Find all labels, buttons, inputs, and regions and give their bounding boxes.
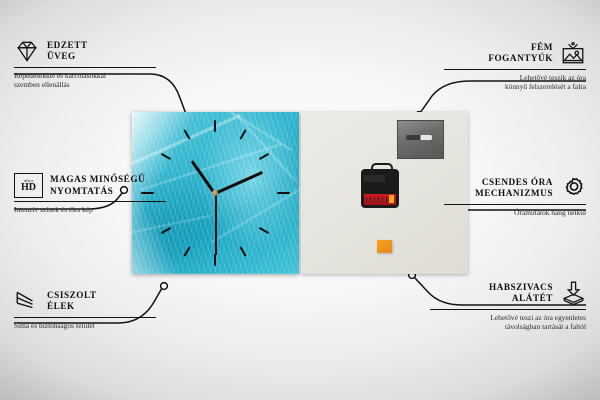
callout-fem-fogantyuk: FÉM FOGANTYÚK Lehetővé teszik az óra kön… (444, 40, 586, 92)
ultra-hd-icon: ultra HD (14, 173, 43, 198)
hanger-slot (406, 135, 432, 140)
callout-csendes-ora-mechanizmus: CSENDES ÓRA MECHANIZMUS Óramutatók hang … (444, 175, 586, 217)
callout-rule (14, 317, 156, 318)
mechanism-hook (371, 163, 393, 173)
clock-minute-hand (214, 171, 263, 195)
callout-rule (444, 204, 586, 205)
diamond-icon (14, 38, 40, 64)
callout-title: HABSZIVACS ALÁTÉT (489, 282, 553, 305)
battery-compartment (364, 194, 396, 205)
callout-title: CSENDES ÓRA MECHANIZMUS (475, 177, 553, 200)
clock-tick (161, 227, 172, 234)
product-photo (132, 112, 468, 274)
callout-subtitle: Óramutatók hang nélkül (444, 208, 586, 218)
clock-hub (212, 190, 218, 196)
callout-title: CSISZOLT ÉLEK (47, 290, 97, 313)
clock-tick (259, 153, 270, 160)
callout-magas-minosegu-nyomtatas: ultra HD MAGAS MINŐSÉGŰ NYOMTATÁS Intenz… (14, 173, 166, 214)
callout-rule (444, 69, 586, 70)
callout-rule (430, 309, 586, 310)
connector-dot-csiszolt-elek (161, 283, 168, 290)
callout-subtitle: Lehetővé teszi az óra egyenletes távolsá… (430, 313, 586, 332)
callout-csiszolt-elek: CSISZOLT ÉLEK Sima és biztonságos felüle… (14, 288, 156, 330)
gear-icon (560, 175, 586, 201)
clock-tick (239, 129, 246, 140)
callout-subtitle: Intenzív színek és éles kép (14, 205, 166, 215)
battery-label-ticks (366, 197, 388, 202)
clock-tick (183, 246, 190, 257)
clock-tick (214, 120, 216, 132)
foam-pad (377, 240, 392, 253)
clock-tick (214, 254, 216, 266)
callout-subtitle: Repedésekkel és karcolásokkal szemben el… (14, 71, 156, 90)
callout-rule (14, 201, 166, 202)
clock-tick (239, 246, 246, 257)
clock-tick (161, 153, 172, 160)
polished-edges-icon (14, 288, 40, 314)
clock-second-hand (215, 193, 216, 255)
callout-title: MAGAS MINŐSÉGŰ NYOMTATÁS (50, 174, 145, 197)
clock-tick (277, 192, 290, 194)
hanging-frame-icon (560, 40, 586, 66)
clock-back-panel (301, 112, 468, 274)
clock-tick (259, 227, 270, 234)
callout-title: FÉM FOGANTYÚK (488, 42, 553, 65)
clock-mechanism (361, 169, 399, 208)
ultra-hd-icon-bottom: HD (21, 183, 36, 193)
callout-rule (14, 67, 156, 68)
infographic-canvas: EDZETT ÜVEG Repedésekkel és karcolásokka… (0, 0, 600, 400)
callout-subtitle: Sima és biztonságos felület (14, 321, 156, 331)
callout-edzett-uveg: EDZETT ÜVEG Repedésekkel és karcolásokka… (14, 38, 156, 90)
callout-habszivacs-alatet: HABSZIVACS ALÁTÉT Lehetővé teszi az óra … (430, 280, 586, 332)
callout-title: EDZETT ÜVEG (47, 40, 88, 63)
foam-pad-arrow-icon (560, 280, 586, 306)
callout-subtitle: Lehetővé teszik az óra könnyű felszerelé… (444, 73, 586, 92)
mechanism-top-ridge (364, 175, 385, 182)
metal-hanger-plate (397, 120, 444, 159)
